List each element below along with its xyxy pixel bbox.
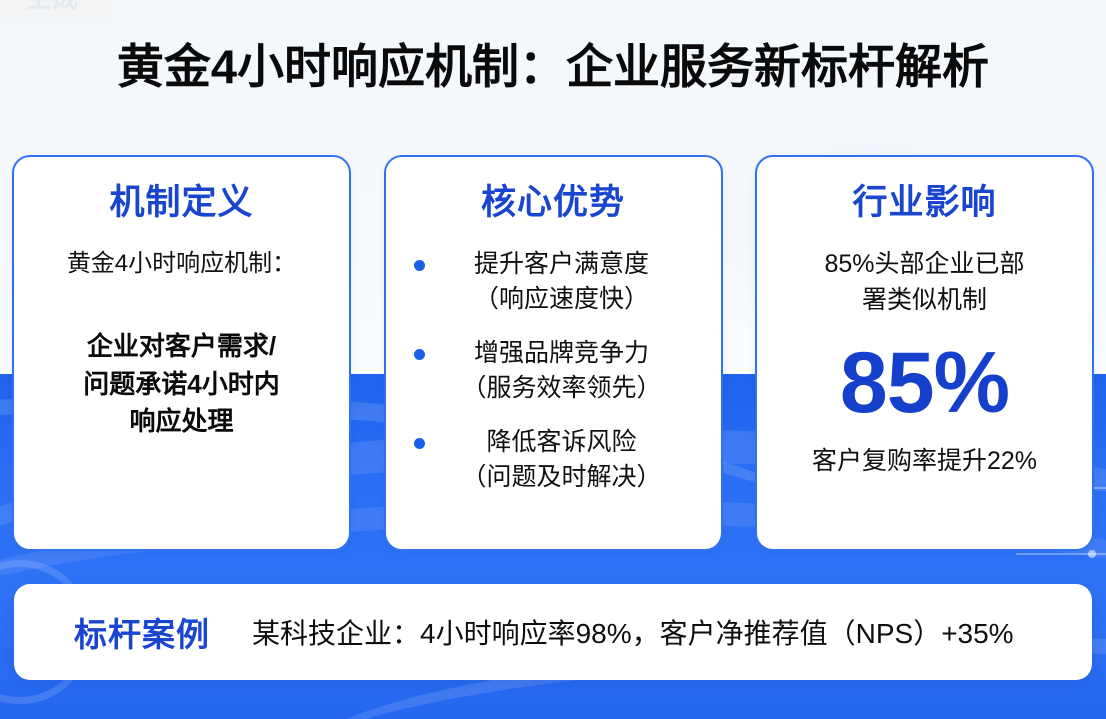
bullet-dot-icon — [414, 438, 425, 449]
impact-footer-text: 客户复购率提升22% — [771, 445, 1078, 479]
card-industry-impact[interactable]: 行业影响 85%头部企业已部 署类似机制 85% 客户复购率提升22% — [755, 155, 1094, 551]
card-lead-text: 85%头部企业已部 署类似机制 — [771, 247, 1078, 318]
bullet-text: 提升客户满意度 （响应速度快） — [439, 247, 707, 316]
card-title: 核心优势 — [400, 183, 707, 223]
advantages-bullet-list: 提升客户满意度 （响应速度快） 增强品牌竞争力 （服务效率领先） 降低客诉风险 — [400, 247, 707, 494]
card-title: 行业影响 — [771, 183, 1078, 223]
bullet-sub-text: （服务效率领先） — [439, 371, 685, 406]
card-mechanism-definition[interactable]: 机制定义 黄金4小时响应机制： 企业对客户需求/ 问题承诺4小时内 响应处理 — [12, 155, 351, 551]
bullet-text: 增强品牌竞争力 （服务效率领先） — [439, 336, 707, 405]
bullet-dot-icon — [414, 260, 425, 271]
benchmark-case-text: 某科技企业：4小时响应率98%，客户净推荐值（NPS）+35% — [252, 612, 1014, 652]
card-core-advantages[interactable]: 核心优势 提升客户满意度 （响应速度快） 增强品牌竞争力 （服务效率领先） — [384, 155, 723, 551]
benchmark-case-bar[interactable]: 标杆案例 某科技企业：4小时响应率98%，客户净推荐值（NPS）+35% — [14, 584, 1092, 680]
card-lead-line: 85%头部企业已部 — [771, 247, 1078, 283]
bullet-dot-icon — [414, 349, 425, 360]
bullet-main-text: 增强品牌竞争力 — [474, 339, 649, 367]
bullet-main-text: 提升客户满意度 — [474, 250, 649, 278]
list-item: 提升客户满意度 （响应速度快） — [400, 247, 707, 316]
list-item: 降低客诉风险 （问题及时解决） — [400, 425, 707, 494]
benchmark-case-label: 标杆案例 — [74, 608, 210, 656]
bullet-text: 降低客诉风险 （问题及时解决） — [439, 425, 707, 494]
card-emphasis-line: 企业对客户需求/ — [28, 328, 335, 366]
card-lead-text: 黄金4小时响应机制： — [28, 247, 335, 282]
list-item: 增强品牌竞争力 （服务效率领先） — [400, 336, 707, 405]
card-lead-line: 署类似机制 — [771, 283, 1078, 319]
card-emphasis-line: 问题承诺4小时内 — [28, 366, 335, 404]
background-dot-line-2 — [1016, 553, 1106, 555]
bullet-sub-text: （问题及时解决） — [439, 460, 685, 495]
card-emphasis-line: 响应处理 — [28, 403, 335, 441]
page-title: 黄金4小时响应机制：企业服务新标杆解析 — [0, 28, 1106, 97]
watermark-badge: 生成 — [0, 0, 112, 22]
slide-root: 生成 黄金4小时响应机制：企业服务新标杆解析 机制定义 黄金4小时响应机制： 企… — [0, 0, 1106, 719]
impact-big-number: 85% — [771, 336, 1078, 431]
feature-cards-row: 机制定义 黄金4小时响应机制： 企业对客户需求/ 问题承诺4小时内 响应处理 核… — [12, 155, 1094, 551]
bullet-sub-text: （响应速度快） — [439, 282, 685, 317]
bullet-main-text: 降低客诉风险 — [486, 428, 636, 456]
card-title: 机制定义 — [28, 183, 335, 223]
card-emphasis-block: 企业对客户需求/ 问题承诺4小时内 响应处理 — [28, 328, 335, 441]
